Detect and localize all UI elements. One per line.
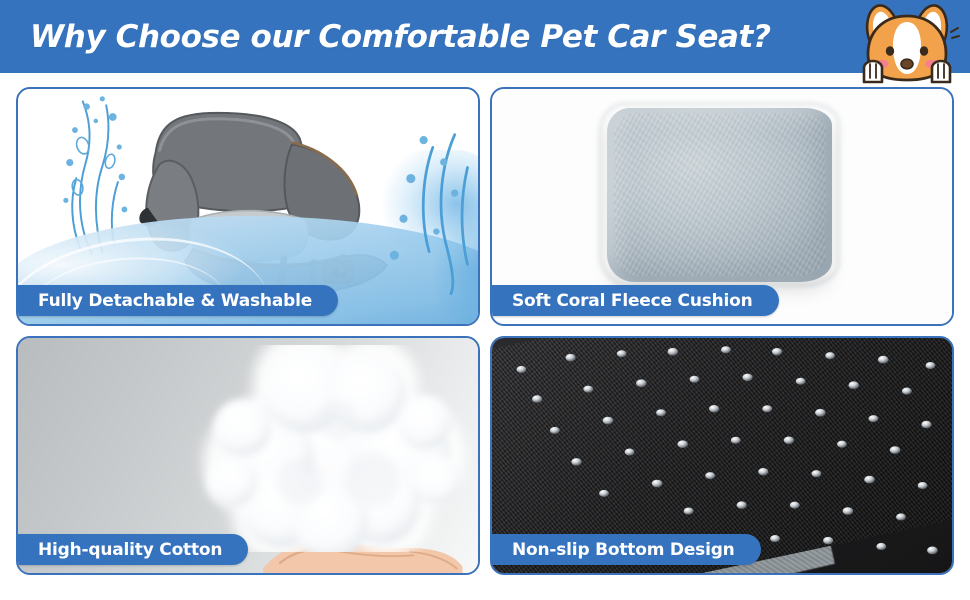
coral-fleece-cushion-product — [607, 108, 832, 282]
feature-panel-non-slip-bottom-design[interactable]: Non-slip Bottom Design — [490, 336, 954, 575]
cotton-fiberfill-ball — [188, 345, 473, 552]
badge-soft-coral-fleece-cushion: Soft Coral Fleece Cushion — [490, 285, 779, 316]
feature-panel-soft-coral-fleece-cushion[interactable]: Soft Coral Fleece Cushion — [490, 87, 954, 326]
page-title: Why Choose our Comfortable Pet Car Seat? — [30, 19, 771, 55]
feature-panel-grid: Fully Detachable & Washable Soft Coral F… — [16, 87, 954, 585]
feature-panel-high-quality-cotton[interactable]: High-quality Cotton — [16, 336, 480, 575]
badge-high-quality-cotton: High-quality Cotton — [16, 534, 248, 565]
badge-fully-detachable-washable: Fully Detachable & Washable — [16, 285, 338, 316]
water-droplets-right-icon — [340, 131, 478, 296]
infographic-root: Why Choose our Comfortable Pet Car Seat? — [0, 0, 970, 600]
corgi-dog-icon — [852, 2, 962, 86]
header-banner: Why Choose our Comfortable Pet Car Seat? — [0, 0, 970, 73]
feature-panel-fully-detachable-washable[interactable]: Fully Detachable & Washable — [16, 87, 480, 326]
badge-non-slip-bottom-design: Non-slip Bottom Design — [490, 534, 761, 565]
